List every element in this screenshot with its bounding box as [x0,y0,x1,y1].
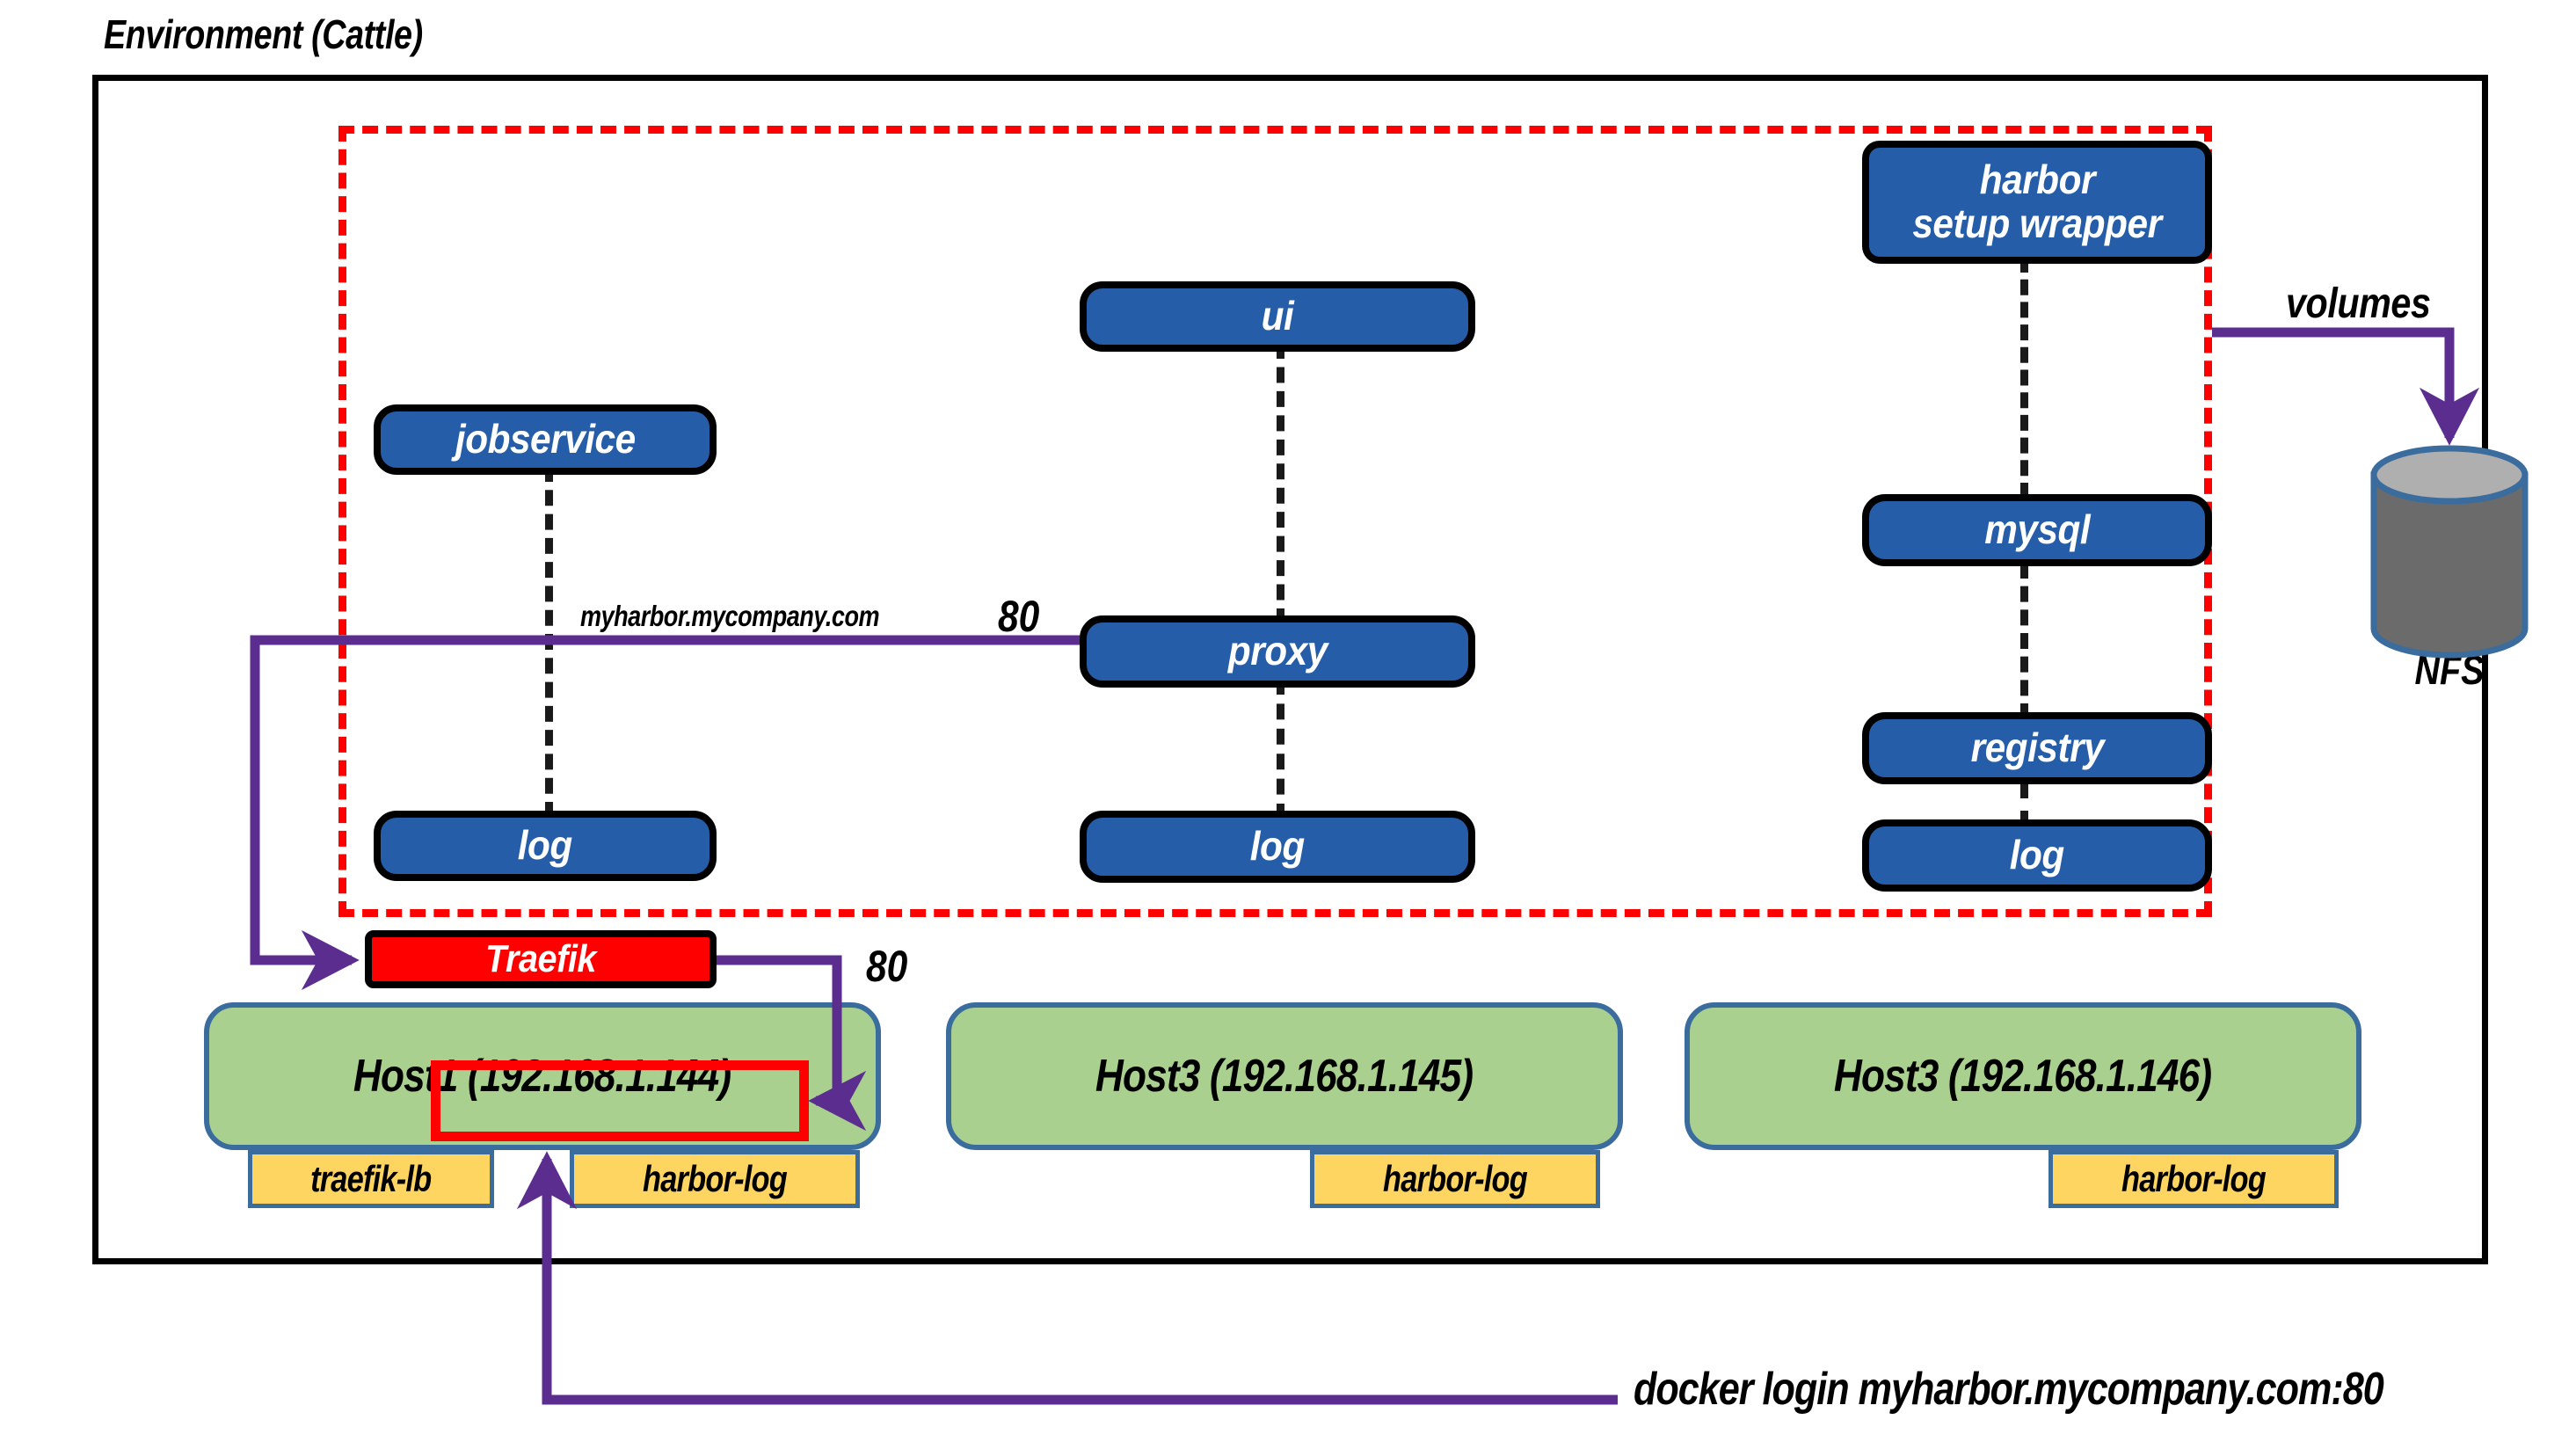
service-label-ui: ui [1262,295,1294,339]
host-box-host3[interactable]: Host3 (192.168.1.146) [1685,1002,2361,1150]
service-box-ui[interactable]: ui [1080,281,1475,352]
host3-service-label-harbor-log[interactable]: harbor-log [2048,1150,2339,1208]
host-box-host2[interactable]: Host3 (192.168.1.145) [946,1002,1623,1150]
host1-harbor-log-text: harbor-log [643,1158,787,1200]
connector-wrapper-mysql [2020,257,2028,499]
host3-harbor-log-text: harbor-log [2121,1158,2266,1200]
annotation-volumes: volumes [2286,280,2454,328]
service-label-proxy: proxy [1228,630,1328,674]
annotation-port-traefik: 80 [866,941,915,992]
service-box-mid-log[interactable]: log [1080,811,1475,883]
service-box-left-log[interactable]: log [374,811,717,881]
host1-service-label-traefik-lb[interactable]: traefik-lb [248,1150,494,1208]
service-box-jobservice[interactable]: jobservice [374,404,717,475]
annotation-docker-login: docker login myharbor.mycompany.com:80 [1634,1363,2536,1416]
host1-ip-highlight [431,1060,809,1141]
host2-service-label-harbor-log[interactable]: harbor-log [1310,1150,1600,1208]
annotation-port-proxy: 80 [998,591,1047,642]
service-box-registry[interactable]: registry [1862,712,2212,784]
service-box-proxy[interactable]: proxy [1080,615,1475,688]
service-box-right-log[interactable]: log [1862,819,2212,892]
service-label-right-log: log [2010,834,2064,877]
traefik-load-balancer-box[interactable]: Traefik [365,930,717,988]
service-box-mysql[interactable]: mysql [1862,494,2212,566]
host1-traefik-lb-text: traefik-lb [310,1158,431,1200]
nfs-label: NFS [2409,646,2490,694]
host-label-host3: Host3 (192.168.1.146) [1834,1050,2211,1103]
diagram-canvas: Environment (Cattle) jobservice log ui p… [0,0,2576,1449]
environment-title: Environment (Cattle) [104,11,423,58]
host1-service-label-harbor-log[interactable]: harbor-log [570,1150,860,1208]
connector-jobservice-log [545,466,553,818]
service-box-harbor-setup-wrapper[interactable]: harbor setup wrapper [1862,141,2212,264]
connector-mysql-registry [2020,563,2028,719]
service-label-left-log: log [518,824,572,868]
service-label-jobservice: jobservice [455,418,636,462]
service-label-mid-log: log [1250,825,1305,869]
service-label-registry: registry [1970,726,2104,770]
service-label-mysql: mysql [1984,508,2090,552]
connector-ui-proxy [1277,343,1284,624]
host2-harbor-log-text: harbor-log [1383,1158,1527,1200]
host-label-host2: Host3 (192.168.1.145) [1095,1050,1473,1103]
service-label-harbor-wrapper-line1: harbor [1979,158,2094,202]
annotation-hostname: myharbor.mycompany.com [580,600,945,633]
service-label-harbor-wrapper-line2: setup wrapper [1912,202,2161,246]
traefik-label: Traefik [485,937,596,981]
connector-proxy-log [1277,679,1284,819]
